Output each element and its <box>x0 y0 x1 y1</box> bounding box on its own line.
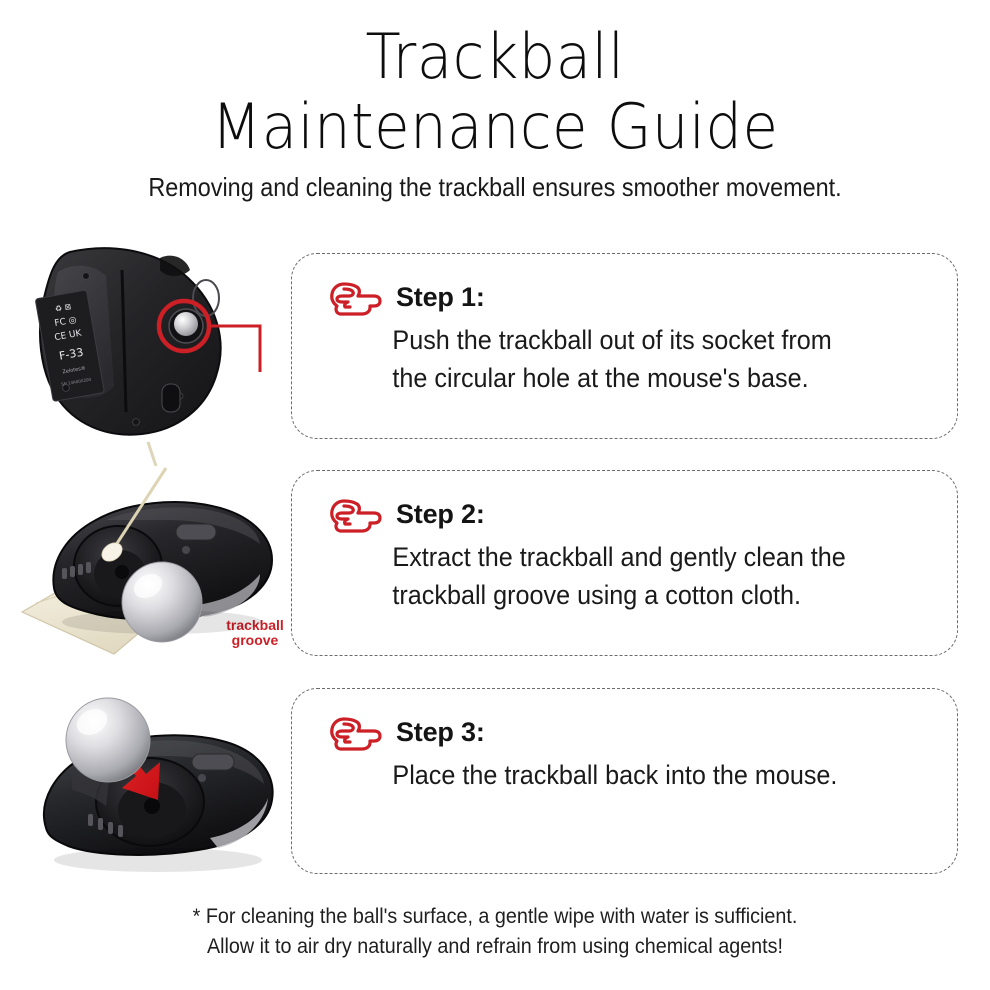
mouse-underside-svg: ♻ ⊠ FC ◎ CE UK F-33 Zelotes® SN 13A00X20… <box>10 236 292 466</box>
step-2-label: Step 2: <box>396 499 485 530</box>
infographic-page: Trackball Maintenance Guide Removing and… <box>0 0 990 990</box>
page-subtitle: Removing and cleaning the trackball ensu… <box>50 172 941 203</box>
footer-line-2: Allow it to air dry naturally and refrai… <box>30 932 961 962</box>
step-row-3: Step 3: Place the trackball back into th… <box>0 678 990 900</box>
step-3-text: Place the trackball back into the mouse. <box>324 757 901 795</box>
step-card-3[interactable]: Step 3: Place the trackball back into th… <box>291 688 958 874</box>
step-2-header: Step 2: <box>324 493 931 535</box>
step-card-2[interactable]: Step 2: Extract the trackball and gently… <box>291 470 958 656</box>
page-title: Trackball Maintenance Guide <box>0 26 990 158</box>
illustration-step-2 <box>10 462 292 677</box>
trackball-reinsert-svg <box>10 678 292 900</box>
trackball-in-hole <box>174 312 198 336</box>
footer-line-1: * For cleaning the ball's surface, a gen… <box>30 902 961 932</box>
step-3-label: Step 3: <box>396 717 485 748</box>
title-line-2: Maintenance Guide <box>35 96 956 158</box>
step-1-label: Step 1: <box>396 282 485 313</box>
step-2-text: Extract the trackball and gently clean t… <box>324 539 901 614</box>
title-line-1: Trackball <box>35 26 956 88</box>
pointing-hand-icon <box>324 493 382 535</box>
footer-note: * For cleaning the ball's surface, a gen… <box>30 902 961 963</box>
detached-trackball <box>122 562 202 642</box>
mouse-with-cloth-svg <box>10 462 292 677</box>
trackball <box>66 698 150 782</box>
step-1-text: Push the trackball out of its socket fro… <box>324 322 901 397</box>
pointing-hand-icon <box>324 711 382 753</box>
step-row-1: ♻ ⊠ FC ◎ CE UK F-33 Zelotes® SN 13A00X20… <box>0 236 990 466</box>
step-1-header: Step 1: <box>324 276 931 318</box>
illustration-step-3 <box>10 678 292 900</box>
step-card-1[interactable]: Step 1: Push the trackball out of its so… <box>291 253 958 439</box>
step-row-2: Step 2: Extract the trackball and gently… <box>0 462 990 677</box>
illustration-step-1: ♻ ⊠ FC ◎ CE UK F-33 Zelotes® SN 13A00X20… <box>10 236 292 466</box>
step-3-header: Step 3: <box>324 711 931 753</box>
pointing-hand-icon <box>324 276 382 318</box>
